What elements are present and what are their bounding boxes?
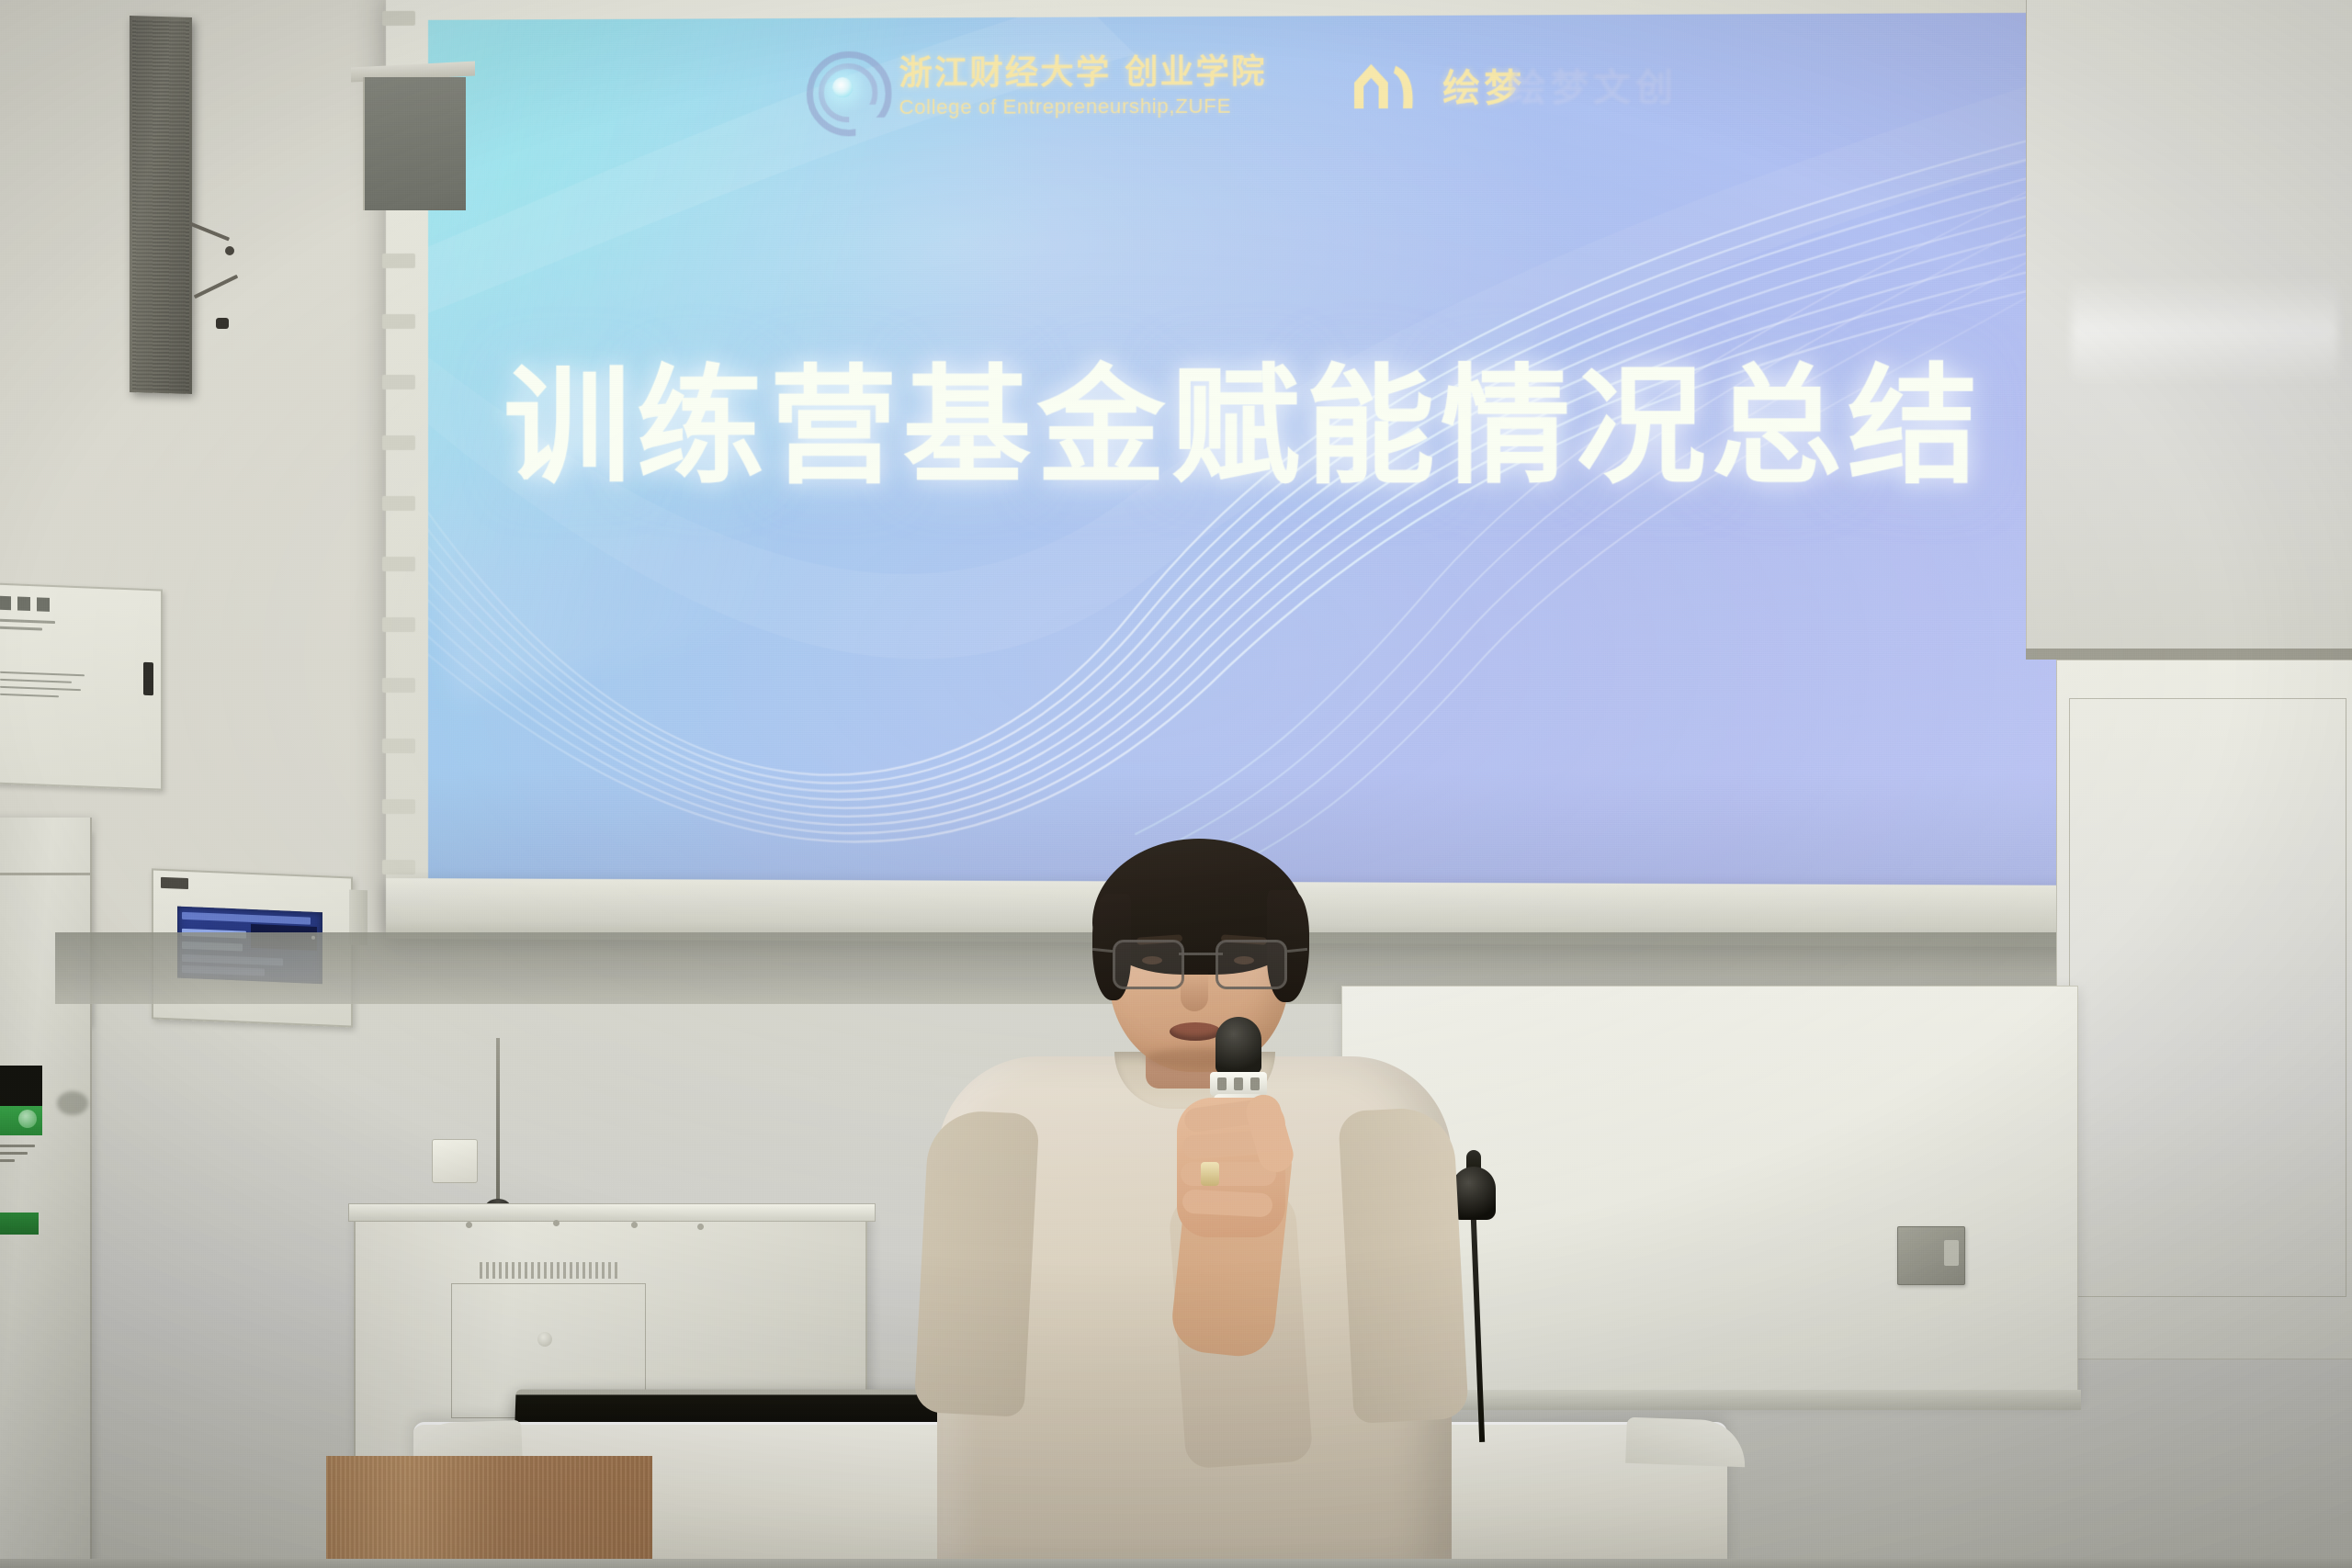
- zufe-logo: 浙江财经大学 创业学院 College of Entrepreneurship,…: [803, 46, 1267, 127]
- presenter-nose: [1181, 971, 1208, 1011]
- dark-label-sticker: [0, 1066, 42, 1106]
- floor-edge: [0, 1559, 2352, 1568]
- microphone-band: [1210, 1072, 1267, 1096]
- panel-latch[interactable]: [143, 662, 153, 695]
- slide-title: 训练营基金赋能情况总结: [428, 321, 2062, 507]
- green-label-sticker: [0, 1213, 39, 1235]
- projected-slide: 浙江财经大学 创业学院 College of Entrepreneurship,…: [428, 13, 2062, 886]
- huimeng-m-logo-icon: [1351, 58, 1422, 112]
- speaker-bracket: [188, 230, 245, 335]
- presenter: [905, 822, 1493, 1568]
- wall-panel-divider: [2026, 649, 2352, 660]
- wall-smudge: [57, 1091, 88, 1115]
- panel-sublabel: [0, 666, 87, 699]
- cabinet-antenna: [496, 1038, 500, 1213]
- wall-outlet-box[interactable]: [1897, 1226, 1965, 1285]
- presentation-room-photo: 浙江财经大学 创业学院 College of Entrepreneurship,…: [0, 0, 2352, 1568]
- gold-ring: [1201, 1162, 1219, 1186]
- lectern-wood-panel: [326, 1456, 652, 1568]
- university-name-cn: 浙江财经大学 创业学院: [899, 55, 1266, 92]
- cabinet-knob[interactable]: [537, 1332, 552, 1347]
- cabinet-vent-grille: [480, 1262, 617, 1279]
- zufe-swirl-logo-icon: [803, 48, 883, 128]
- presenter-sleeve-right: [1338, 1106, 1469, 1424]
- presenter-sleeve-left: [913, 1109, 1039, 1417]
- wall-panel-inner-frame: [2069, 698, 2346, 1297]
- green-safety-sticker: [0, 1106, 42, 1135]
- projection-screen: 浙江财经大学 创业学院 College of Entrepreneurship,…: [386, 0, 2106, 947]
- microphone-head-icon: [1216, 1017, 1261, 1074]
- slide-logo-row: 浙江财经大学 创业学院 College of Entrepreneurship,…: [428, 31, 2062, 140]
- university-name-en: College of Entrepreneurship,ZUFE: [899, 95, 1266, 118]
- cabinet-side-opening: [363, 77, 466, 210]
- partner-logo: 绘梦 绘梦文创: [1351, 57, 1678, 112]
- electrical-distribution-panel[interactable]: [0, 582, 163, 790]
- wall-speaker: [130, 16, 192, 394]
- panel-label: [0, 596, 118, 634]
- wall-panel-upper: [2026, 0, 2352, 658]
- wall-light-switch[interactable]: [432, 1139, 478, 1183]
- partner-watermark: 绘梦文创: [1509, 57, 1678, 111]
- sticker-fine-print: [0, 1145, 39, 1167]
- cabinet-top: [348, 1203, 876, 1222]
- control-panel-tag: [161, 877, 188, 889]
- left-cabinet: [0, 818, 92, 1568]
